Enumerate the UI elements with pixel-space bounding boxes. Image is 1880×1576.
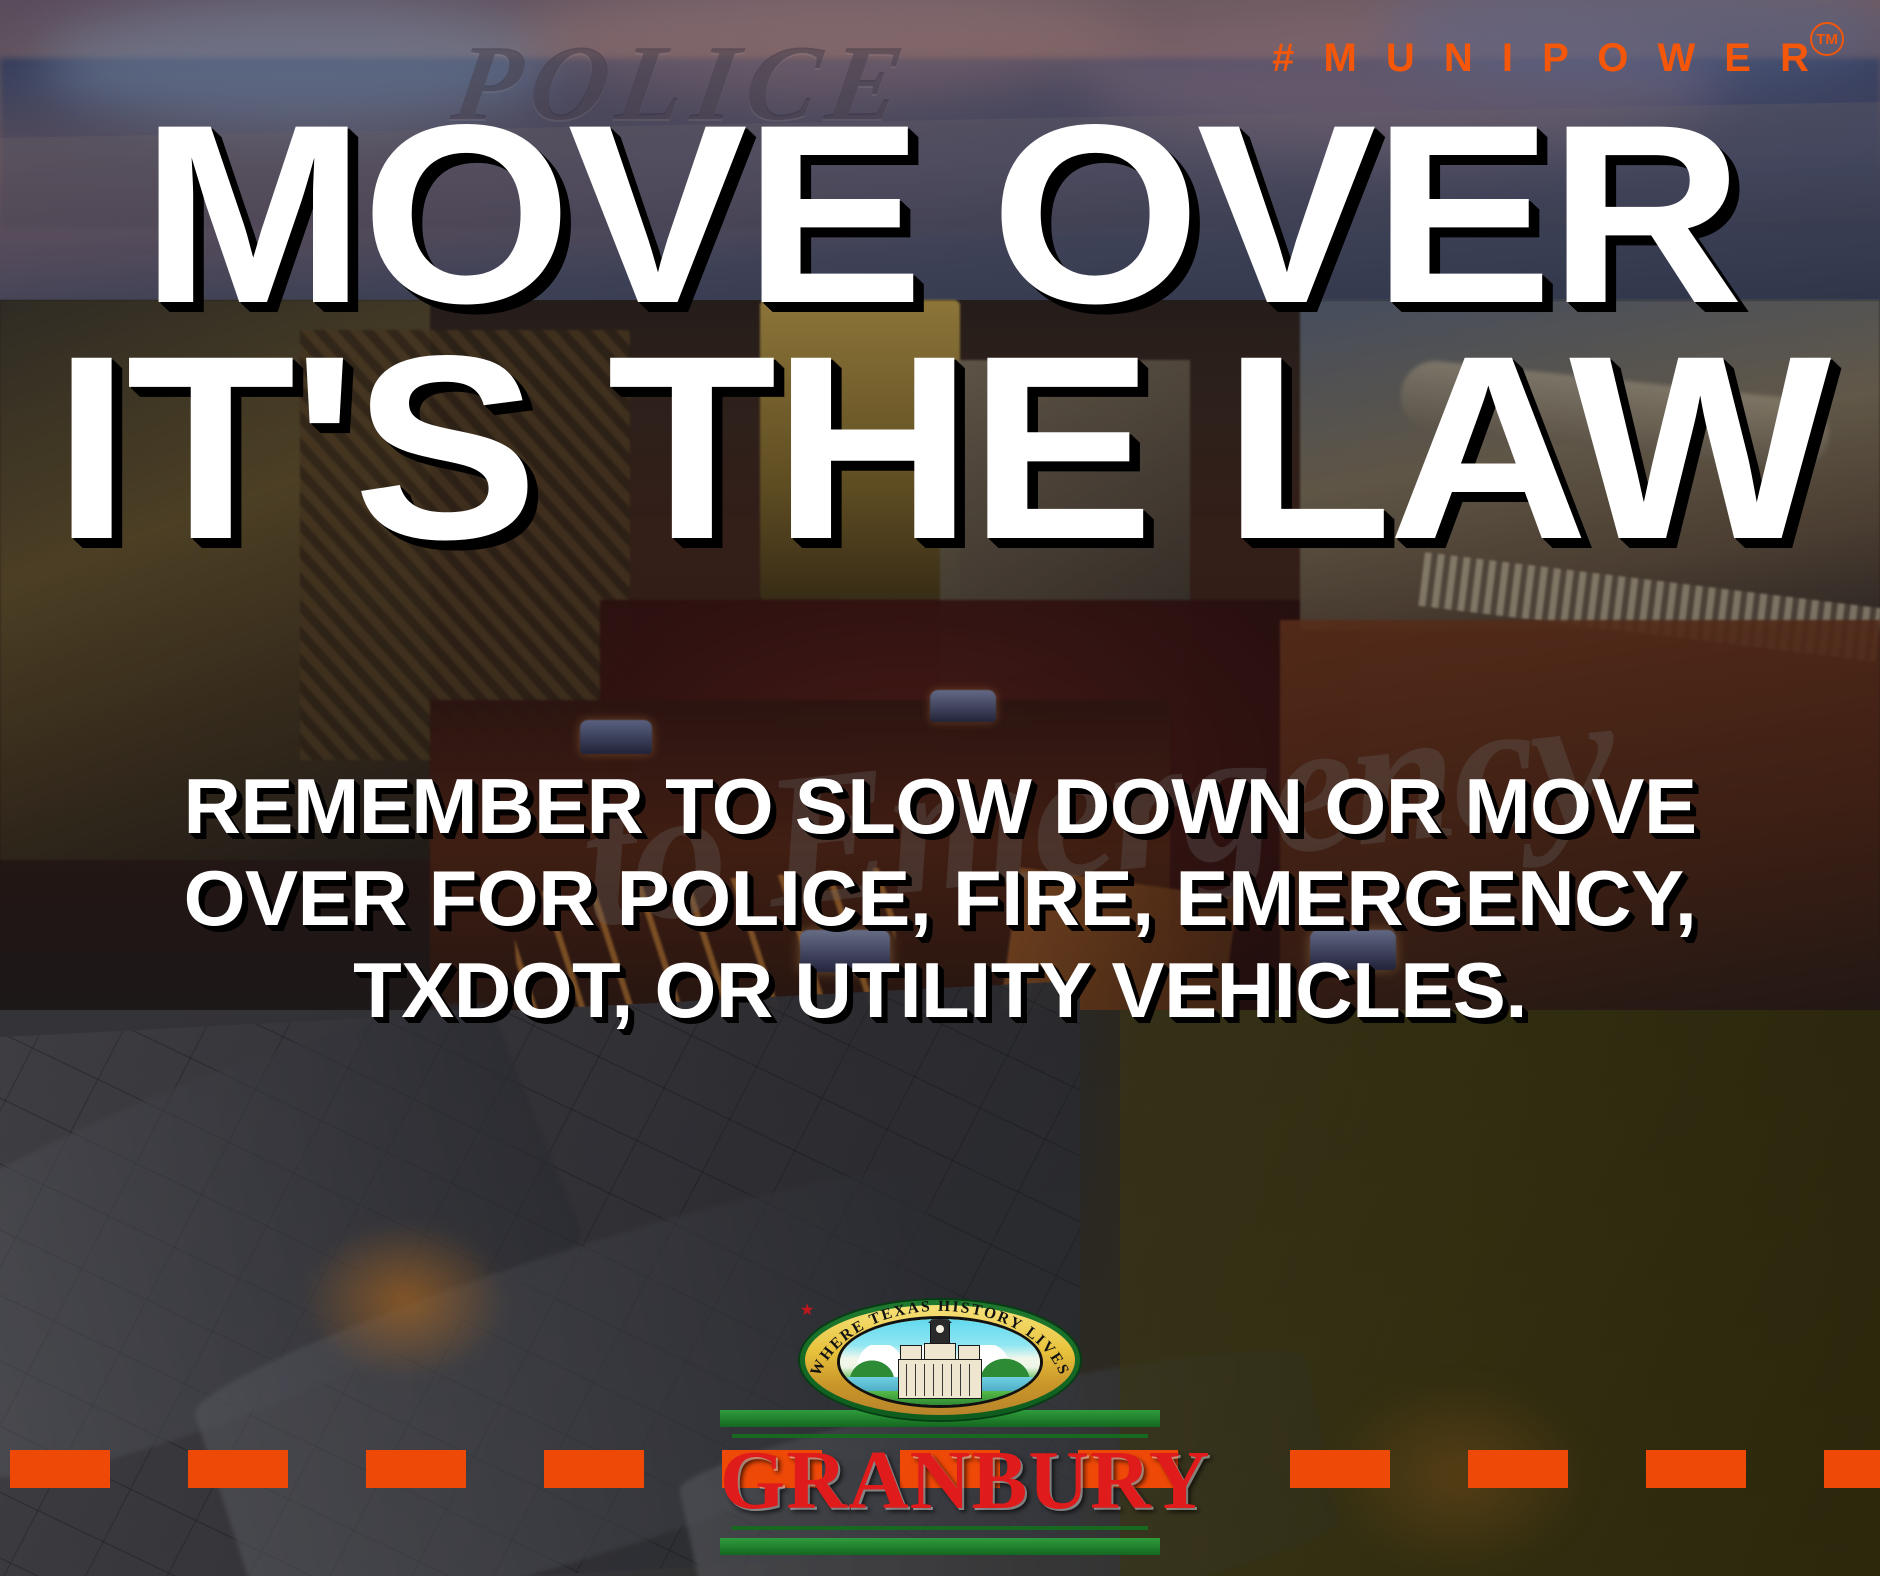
headline-line-2: IT'S THE LAW [0, 330, 1880, 566]
subheading-line-1: REMEMBER TO SLOW DOWN OR MOVE [73, 760, 1807, 852]
subheading-line-2: OVER FOR POLICE, FIRE, EMERGENCY, [73, 852, 1807, 944]
poster-content: # M U N I P O W E R TM MOVE OVER IT'S TH… [0, 0, 1880, 1576]
subheading-line-3: TXDOT, OR UTILITY VEHICLES. [73, 944, 1807, 1036]
headline-line-1: MOVE OVER [0, 100, 1880, 330]
poster-graphic: POLICE to Emergency # M U N I P O W E R … [0, 0, 1880, 1576]
road-dash [1290, 1450, 1390, 1488]
green-bar-bottom [720, 1538, 1160, 1555]
green-thin-bar-bottom [732, 1526, 1148, 1530]
courthouse-windows [902, 1364, 978, 1396]
clock-face-icon [936, 1325, 944, 1333]
courthouse-emblem: WHERE TEXAS HISTORY LIVES [800, 1300, 1080, 1420]
city-name: GRANBURY [720, 1438, 1160, 1524]
courthouse-icon [898, 1325, 982, 1399]
granbury-city-logo: WHERE TEXAS HISTORY LIVES GRANBURY [720, 1300, 1160, 1560]
subheading: REMEMBER TO SLOW DOWN OR MOVE OVER FOR P… [73, 760, 1807, 1036]
road-dash [366, 1450, 466, 1488]
road-dash [188, 1450, 288, 1488]
road-dash [1468, 1450, 1568, 1488]
road-dash [10, 1450, 110, 1488]
emblem-scene [840, 1319, 1040, 1405]
road-dash [1646, 1450, 1746, 1488]
trademark-icon: TM [1810, 22, 1844, 56]
road-dash [1824, 1450, 1880, 1488]
headline: MOVE OVER IT'S THE LAW [0, 100, 1880, 565]
road-dash [544, 1450, 644, 1488]
